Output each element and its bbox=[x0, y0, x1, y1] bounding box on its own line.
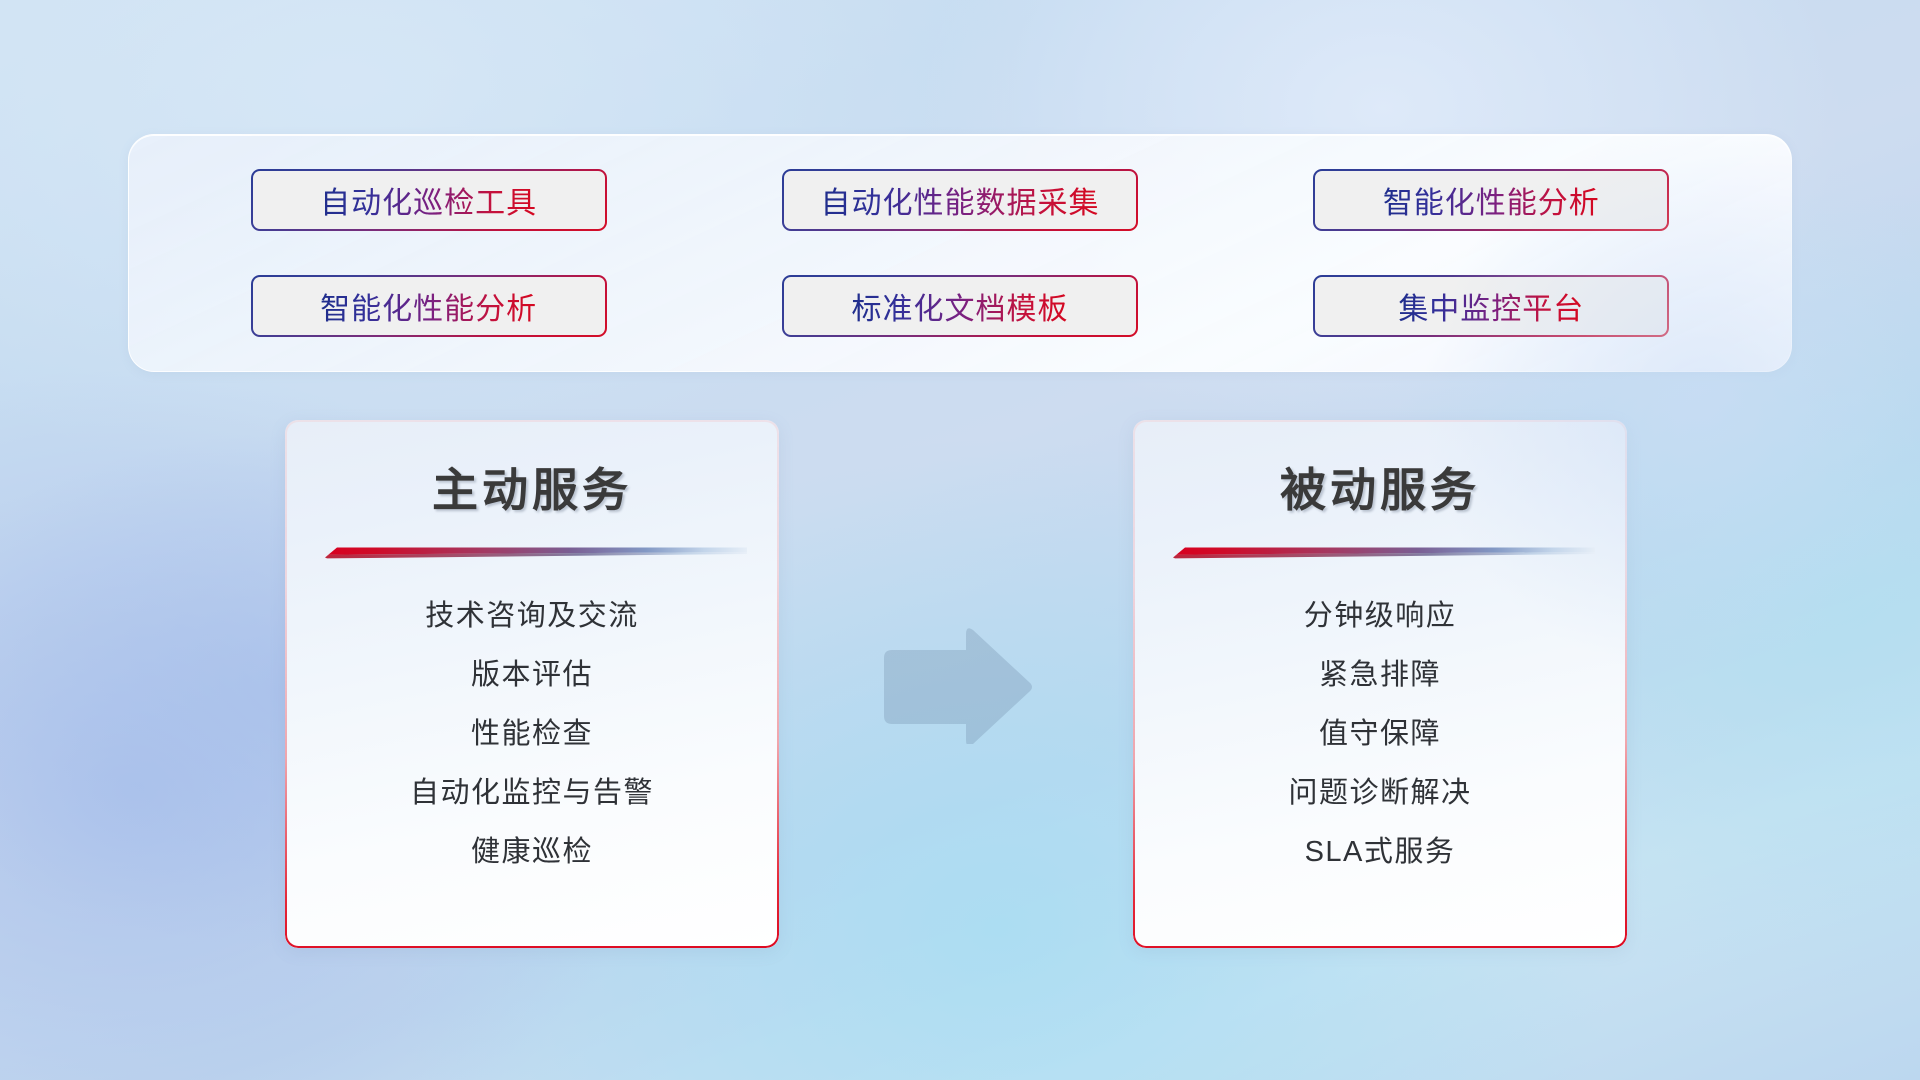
title-divider bbox=[317, 546, 747, 559]
list-item: 自动化监控与告警 bbox=[303, 764, 761, 823]
list-item: 健康巡检 bbox=[303, 823, 761, 882]
service-card-proactive: 主动服务 bbox=[285, 420, 779, 948]
capability-tag-label: 智能化性能分析 bbox=[1383, 178, 1600, 222]
capability-tag[interactable]: 智能化性能分析 bbox=[251, 275, 607, 337]
capability-tag-label: 智能化性能分析 bbox=[320, 284, 537, 328]
list-item: 技术咨询及交流 bbox=[303, 587, 761, 646]
list-item: 紧急排障 bbox=[1151, 646, 1609, 705]
capability-tag[interactable]: 智能化性能分析 bbox=[1313, 169, 1669, 231]
list-item: 分钟级响应 bbox=[1151, 587, 1609, 646]
service-card-title: 被动服务 bbox=[1133, 454, 1627, 520]
list-item: 问题诊断解决 bbox=[1151, 764, 1609, 823]
capability-tag-label: 标准化文档模板 bbox=[851, 284, 1068, 328]
title-divider bbox=[1165, 546, 1595, 559]
arrow-right-icon bbox=[876, 626, 1034, 744]
capability-tag-label: 自动化性能数据采集 bbox=[820, 178, 1099, 222]
list-item: 值守保障 bbox=[1151, 705, 1609, 764]
slide-canvas: 自动化巡检工具 自动化性能数据采集 智能化性能分析 智能化性能分析 标准化文档模… bbox=[0, 0, 1920, 1080]
list-item: 性能检查 bbox=[303, 705, 761, 764]
capability-tag[interactable]: 集中监控平台 bbox=[1313, 275, 1669, 337]
service-card-title: 主动服务 bbox=[285, 454, 779, 520]
service-item-list: 分钟级响应 紧急排障 值守保障 问题诊断解决 SLA式服务 bbox=[1133, 587, 1627, 882]
capability-tag[interactable]: 标准化文档模板 bbox=[782, 275, 1138, 337]
capability-tag-label: 集中监控平台 bbox=[1398, 284, 1584, 328]
capability-tag[interactable]: 自动化性能数据采集 bbox=[782, 169, 1138, 231]
list-item: 版本评估 bbox=[303, 646, 761, 705]
capability-tag[interactable]: 自动化巡检工具 bbox=[251, 169, 607, 231]
capability-tag-label: 自动化巡检工具 bbox=[320, 178, 537, 222]
service-item-list: 技术咨询及交流 版本评估 性能检查 自动化监控与告警 健康巡检 bbox=[285, 587, 779, 882]
capability-tags-panel: 自动化巡检工具 自动化性能数据采集 智能化性能分析 智能化性能分析 标准化文档模… bbox=[128, 134, 1792, 372]
capability-tags-grid: 自动化巡检工具 自动化性能数据采集 智能化性能分析 智能化性能分析 标准化文档模… bbox=[129, 135, 1791, 371]
service-card-reactive: 被动服务 bbox=[1133, 420, 1627, 948]
list-item: SLA式服务 bbox=[1151, 823, 1609, 882]
